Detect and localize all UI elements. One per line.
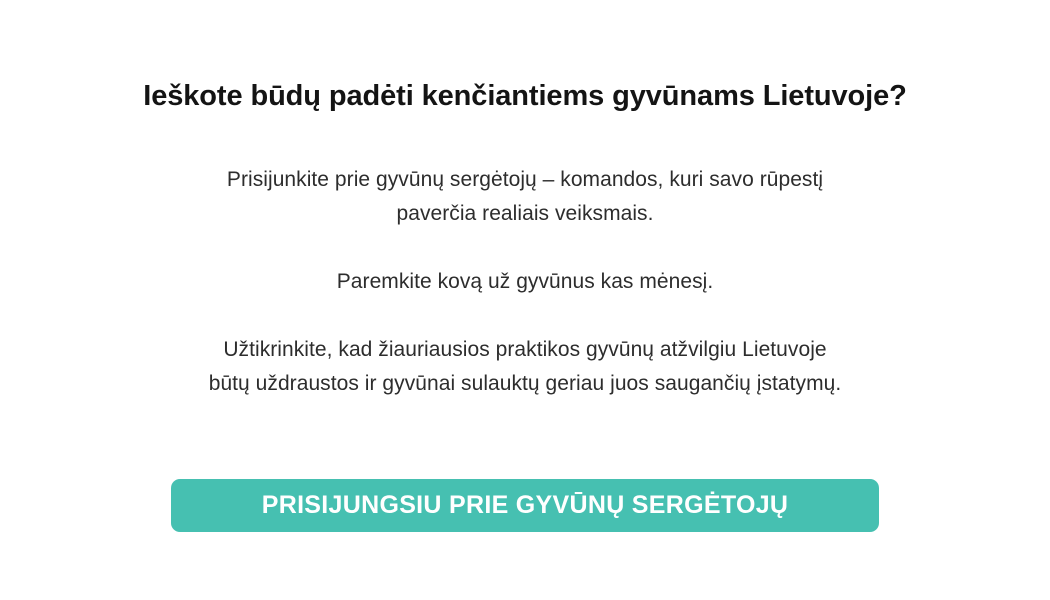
page-title: Ieškote būdų padėti kenčiantiems gyvūnam… <box>0 78 1050 114</box>
body-copy: Prisijunkite prie gyvūnų sergėtojų – kom… <box>0 163 1050 401</box>
cta-container: PRISIJUNGSIU PRIE GYVŪNŲ SERGĖTOJŲ <box>0 479 1050 532</box>
promo-page: Ieškote būdų padėti kenčiantiems gyvūnam… <box>0 0 1050 600</box>
paragraph-1-line-1: Prisijunkite prie gyvūnų sergėtojų – kom… <box>0 163 1050 197</box>
paragraph-2-line-1: Paremkite kovą už gyvūnus kas mėnesį. <box>0 265 1050 299</box>
paragraph-spacer <box>0 231 1050 265</box>
paragraph-3-line-1: Užtikrinkite, kad žiauriausios praktikos… <box>0 333 1050 367</box>
paragraph-3-line-2: būtų uždraustos ir gyvūnai sulauktų geri… <box>0 367 1050 401</box>
paragraph-spacer <box>0 299 1050 333</box>
paragraph-1-line-2: paverčia realiais veiksmais. <box>0 197 1050 231</box>
join-animal-guardians-button[interactable]: PRISIJUNGSIU PRIE GYVŪNŲ SERGĖTOJŲ <box>171 479 879 532</box>
